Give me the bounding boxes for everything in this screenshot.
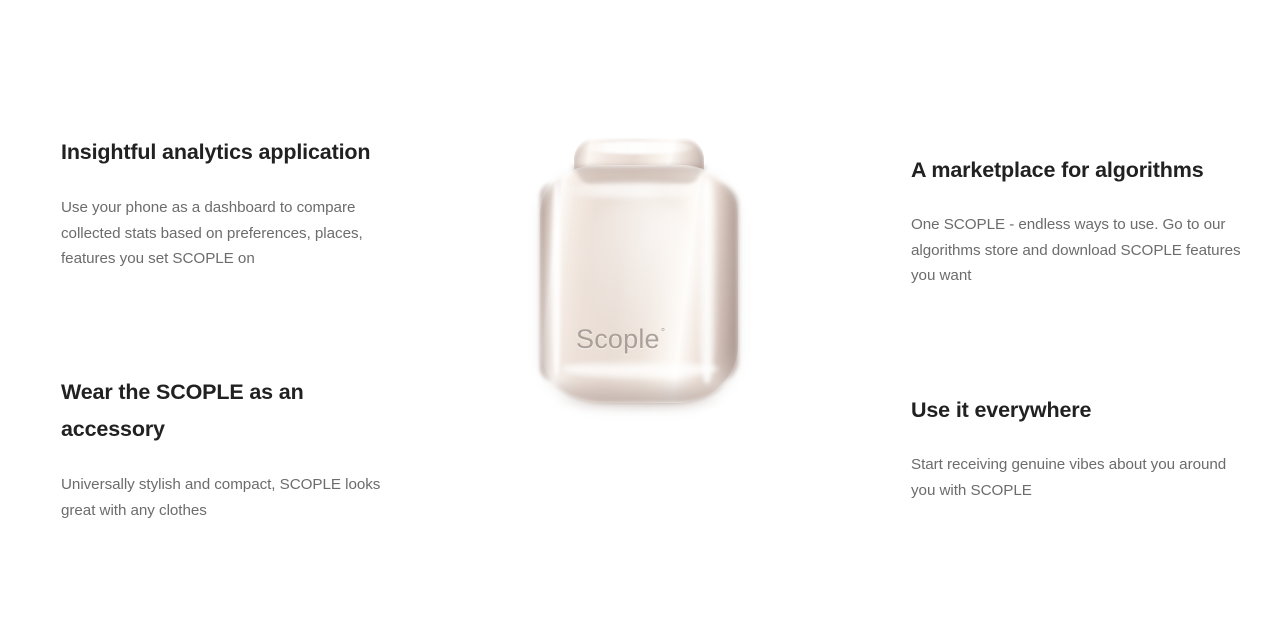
device-left-specular-highlight — [551, 182, 562, 376]
feature-a-marketplace-for-algorithms: A marketplace for algorithms One SCOPLE … — [911, 152, 1251, 289]
feature-title: Use it everywhere — [911, 392, 1251, 429]
feature-title: A marketplace for algorithms — [911, 152, 1251, 189]
device-brand-name: Scople — [576, 324, 660, 354]
feature-title: Wear the SCOPLE as an accessory — [61, 374, 406, 448]
device-trademark-mark: ° — [661, 327, 666, 339]
left-feature-column: Insightful analytics application Use you… — [61, 0, 421, 620]
feature-description: Universally stylish and compact, SCOPLE … — [61, 472, 406, 523]
feature-description: Use your phone as a dashboard to compare… — [61, 195, 381, 272]
right-feature-column: A marketplace for algorithms One SCOPLE … — [911, 0, 1261, 620]
feature-use-it-everywhere: Use it everywhere Start receiving genuin… — [911, 392, 1251, 503]
product-features-section: Insightful analytics application Use you… — [0, 0, 1280, 620]
device-brand-logo: Scople° — [576, 324, 692, 355]
device-right-specular-highlight — [696, 178, 718, 384]
feature-wear-the-scople-as-an-accessory: Wear the SCOPLE as an accessory Universa… — [61, 374, 406, 523]
feature-description: Start receiving genuine vibes about you … — [911, 452, 1251, 503]
feature-insightful-analytics-application: Insightful analytics application Use you… — [61, 134, 391, 272]
device-bottom-highlight — [562, 360, 718, 378]
device-cap-rim-highlight — [582, 141, 696, 154]
scople-device-image: Scople° — [528, 138, 750, 418]
device-face-sheen — [580, 194, 700, 344]
feature-title: Insightful analytics application — [61, 134, 391, 171]
device-bottom-edge-shading — [554, 378, 726, 403]
feature-description: One SCOPLE - endless ways to use. Go to … — [911, 212, 1251, 289]
